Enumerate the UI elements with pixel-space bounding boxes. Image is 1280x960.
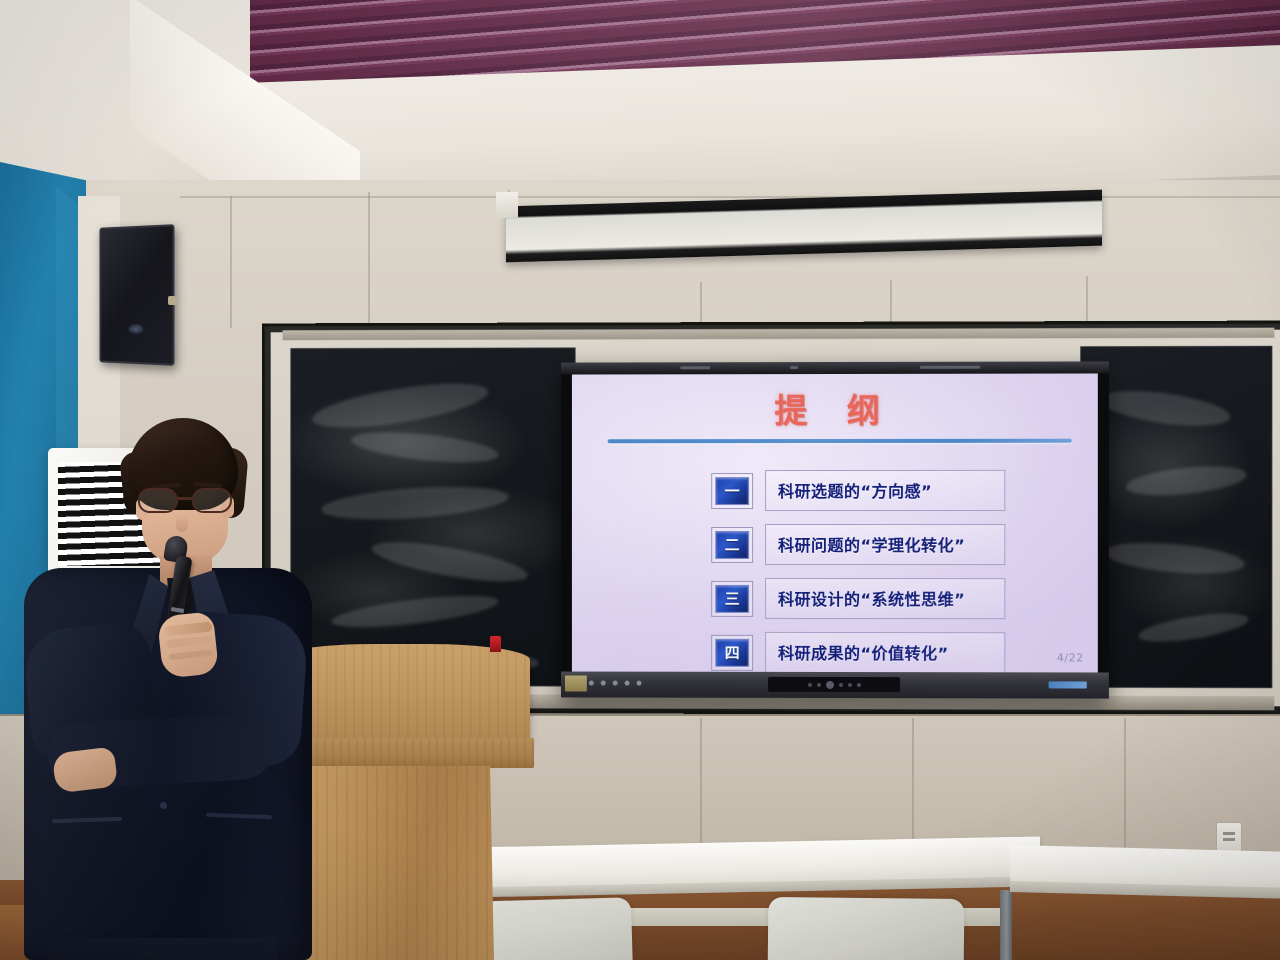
wall-speaker (99, 224, 174, 366)
glasses-bridge (178, 497, 194, 500)
display-sticker (565, 675, 587, 691)
eyeglasses-icon (136, 488, 236, 514)
outline-item: 四 科研成果的“价值转化” (711, 632, 1005, 673)
source-key-icon[interactable] (637, 681, 642, 686)
slide-surface: 提 纲 一 科研选题的“方向感” 二 科研问题的“学理化转化” (572, 373, 1098, 672)
slide-title: 提 纲 (572, 384, 1098, 433)
wall-seam (230, 196, 232, 328)
chair[interactable] (768, 897, 965, 960)
display-brand-logo (1049, 681, 1087, 688)
slide-outline-list: 一 科研选题的“方向感” 二 科研问题的“学理化转化” 三 科研设计的“系统性思… (711, 470, 1005, 673)
volume-down-key-icon[interactable] (613, 681, 618, 686)
wall-seam (368, 192, 370, 324)
chalkboard-right-panel (1080, 346, 1272, 688)
outline-number-badge: 三 (711, 580, 753, 616)
wall-seam (1086, 276, 1088, 326)
volume-up-key-icon[interactable] (625, 681, 630, 686)
hand-holding-microphone (157, 611, 219, 679)
slide-divider-rule (608, 439, 1072, 444)
outline-number-badge: 四 (711, 634, 753, 670)
lens-right (192, 488, 232, 513)
wall-seam (890, 280, 892, 326)
outline-item: 三 科研设计的“系统性思维” (711, 578, 1005, 619)
outline-number-label: 一 (715, 477, 749, 505)
presenter (18, 418, 318, 960)
outline-number-label: 二 (715, 530, 749, 558)
display-bezel-top (561, 361, 1109, 374)
lectern-column (296, 766, 494, 960)
outline-item-text: 科研选题的“方向感” (765, 470, 1005, 511)
outline-number-label: 四 (715, 638, 749, 666)
trousers (48, 938, 278, 960)
outline-item-text: 科研问题的“学理化转化” (765, 524, 1005, 565)
speaker-bracket (168, 296, 177, 305)
nose (176, 514, 188, 532)
outline-number-badge: 二 (711, 527, 753, 563)
display-ir-receiver-panel (768, 677, 900, 692)
wall-seam-horizontal (180, 196, 1280, 198)
red-marker (490, 636, 501, 652)
table-leg (1000, 890, 1012, 960)
lecture-hall-scene: 提 纲 一 科研选题的“方向感” 二 科研问题的“学理化转化” (0, 0, 1280, 960)
menu-key-icon[interactable] (601, 681, 606, 686)
interactive-flat-panel[interactable]: 提 纲 一 科研选题的“方向感” 二 科研问题的“学理化转化” (561, 361, 1109, 698)
outline-number-label: 三 (715, 584, 749, 612)
power-key-icon[interactable] (589, 681, 594, 686)
outline-number-badge: 一 (711, 473, 753, 509)
jacket-button (160, 802, 167, 809)
outline-item: 一 科研选题的“方向感” (711, 470, 1005, 511)
outline-item-text: 科研设计的“系统性思维” (765, 578, 1005, 619)
outline-item-text: 科研成果的“价值转化” (765, 632, 1005, 673)
wall-seam (700, 282, 702, 326)
display-control-keys[interactable] (589, 681, 642, 686)
projector-screen-mount (496, 192, 518, 219)
display-bezel-bottom (561, 672, 1109, 699)
chalkboard-left-panel (290, 347, 575, 686)
speaker-cone-icon (128, 324, 143, 334)
outline-item: 二 科研问题的“学理化转化” (711, 524, 1005, 565)
slide-page-number: 4/22 (1057, 651, 1084, 664)
lens-left (138, 488, 178, 513)
